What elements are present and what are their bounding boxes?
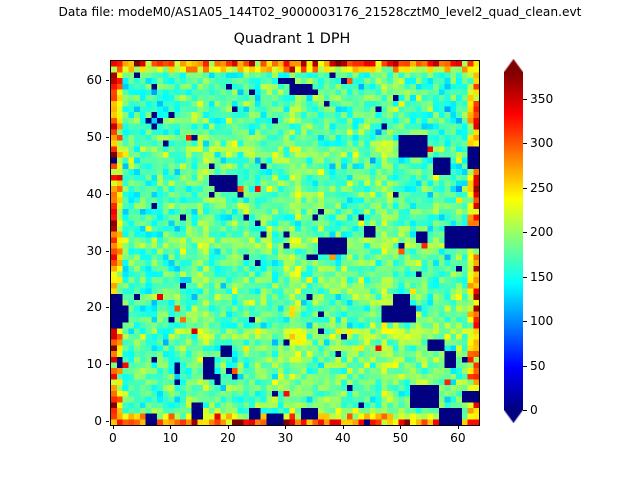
dph-heatmap-image: [111, 61, 479, 425]
y-tick-mark: [106, 421, 110, 422]
colorbar-tick-label: 150: [530, 270, 553, 284]
colorbar-tick-mark: [523, 188, 527, 189]
colorbar-tick-mark: [523, 366, 527, 367]
x-tick-mark: [400, 425, 401, 429]
x-tick-mark: [343, 425, 344, 429]
colorbar-max-arrow-icon: [504, 59, 523, 72]
y-tick-mark: [106, 80, 110, 81]
data-file-suptitle: Data file: modeM0/AS1A05_144T02_90000031…: [0, 5, 640, 19]
x-tick-mark: [285, 425, 286, 429]
colorbar-min-arrow-icon: [504, 410, 523, 423]
colorbar-tick-label: 50: [530, 359, 546, 373]
x-tick-mark: [113, 425, 114, 429]
y-tick-label: 0: [78, 414, 102, 428]
y-tick-label: 20: [78, 300, 102, 314]
y-tick-label: 50: [78, 130, 102, 144]
y-tick-mark: [106, 307, 110, 308]
colorbar-tick-label: 0: [530, 403, 538, 417]
colorbar-tick-label: 200: [530, 225, 553, 239]
colorbar-tick-label: 350: [530, 92, 553, 106]
x-tick-label: 50: [393, 431, 409, 445]
colorbar-gradient: [504, 72, 523, 410]
y-tick-label: 60: [78, 73, 102, 87]
colorbar-tick-mark: [523, 277, 527, 278]
colorbar-tick-label: 300: [530, 136, 553, 150]
colorbar-tick-mark: [523, 143, 527, 144]
y-tick-label: 30: [78, 244, 102, 258]
x-tick-label: 40: [335, 431, 351, 445]
x-tick-label: 60: [450, 431, 466, 445]
y-tick-mark: [106, 364, 110, 365]
x-tick-label: 30: [278, 431, 294, 445]
x-tick-label: 20: [220, 431, 236, 445]
colorbar-tick-label: 250: [530, 181, 553, 195]
heatmap-axes: [110, 60, 480, 426]
x-tick-label: 10: [163, 431, 179, 445]
colorbar-tick-mark: [523, 99, 527, 100]
x-tick-label: 0: [109, 431, 117, 445]
x-tick-mark: [458, 425, 459, 429]
y-tick-label: 10: [78, 357, 102, 371]
x-tick-mark: [228, 425, 229, 429]
y-tick-mark: [106, 251, 110, 252]
colorbar-tick-mark: [523, 321, 527, 322]
colorbar-tick-mark: [523, 232, 527, 233]
y-tick-mark: [106, 137, 110, 138]
y-tick-mark: [106, 194, 110, 195]
colorbar-tick-label: 100: [530, 314, 553, 328]
page-title: Quadrant 1 DPH: [0, 31, 584, 47]
figure-canvas: Data file: modeM0/AS1A05_144T02_90000031…: [0, 0, 640, 480]
colorbar: [504, 72, 523, 410]
y-tick-label: 40: [78, 187, 102, 201]
colorbar-tick-mark: [523, 410, 527, 411]
x-tick-mark: [170, 425, 171, 429]
